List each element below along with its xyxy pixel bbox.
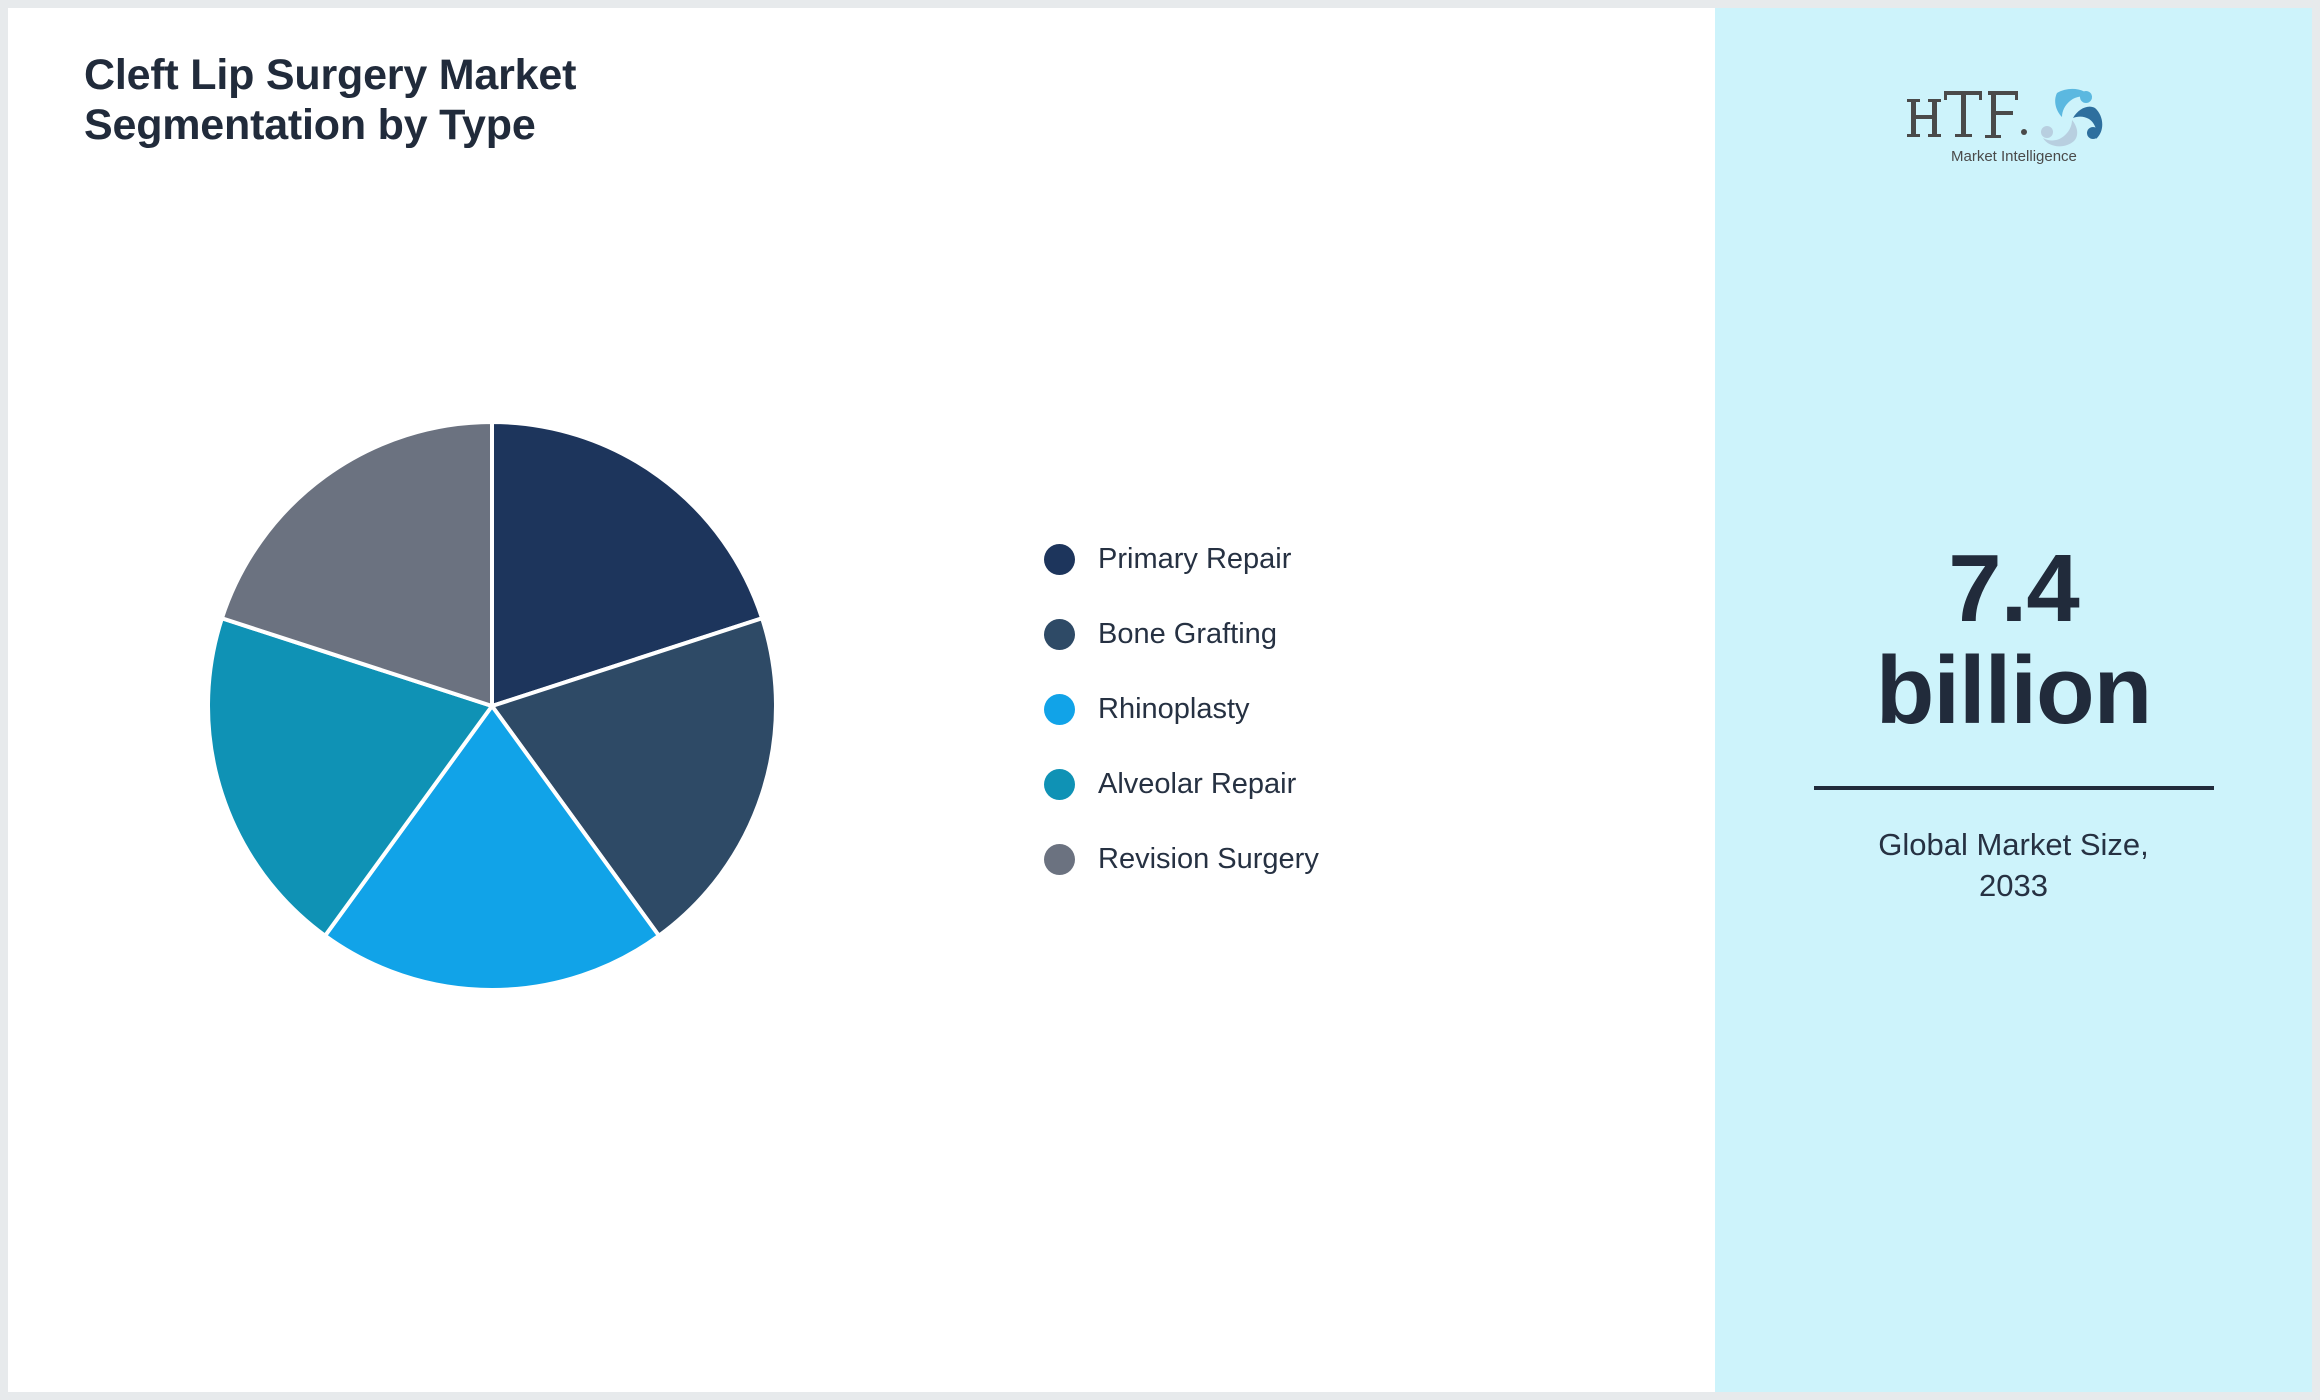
legend-swatch-icon-primary-repair [1044,544,1075,575]
legend-label-primary-repair: Primary Repair [1098,543,1291,576]
stat-value: 7.4 billion [1814,538,2214,742]
chart-panel: Cleft Lip Surgery Market Segmentation by… [8,8,1715,1392]
legend-item-primary-repair[interactable]: Primary Repair [1044,522,1494,597]
stat-caption-line-1: Global Market Size, [1814,824,2214,865]
stat-value-line-1: 7.4 [1814,538,2214,640]
stat-value-line-2: billion [1814,640,2214,742]
chart-title-line-2: Segmentation by Type [84,100,844,150]
legend-item-revision-surgery[interactable]: Revision Surgery [1044,822,1494,897]
legend-label-alveolar-repair: Alveolar Repair [1098,768,1296,801]
chart-title-line-1: Cleft Lip Surgery Market [84,50,844,100]
legend-label-rhinoplasty: Rhinoplasty [1098,693,1250,726]
legend-swatch-icon-rhinoplasty [1044,694,1075,725]
legend-swatch-icon-alveolar-repair [1044,769,1075,800]
legend-swatch-icon-revision-surgery [1044,844,1075,875]
legend-label-bone-grafting: Bone Grafting [1098,618,1277,651]
chart-legend: Primary Repair Bone Grafting Rhinoplasty… [1044,522,1494,897]
screenshot-canvas: Cleft Lip Surgery Market Segmentation by… [0,0,2320,1400]
stat-block: 7.4 billion Global Market Size, 2033 [1814,538,2214,906]
legend-item-alveolar-repair[interactable]: Alveolar Repair [1044,747,1494,822]
stat-sidebar: Market Intelligence 7.4 billion Global M… [1715,8,2312,1392]
stat-divider [1814,786,2214,790]
pie-chart-svg [207,421,777,991]
legend-item-bone-grafting[interactable]: Bone Grafting [1044,597,1494,672]
stat-caption: Global Market Size, 2033 [1814,824,2214,906]
brand-logo[interactable]: Market Intelligence [1849,66,2179,176]
htf-market-intelligence-logo-icon: Market Intelligence [1906,75,2121,167]
logo-tagline: Market Intelligence [1951,148,2077,165]
legend-swatch-icon-bone-grafting [1044,619,1075,650]
legend-label-revision-surgery: Revision Surgery [1098,843,1319,876]
pie-chart [207,421,777,991]
infographic-card: Cleft Lip Surgery Market Segmentation by… [8,8,2312,1392]
page-title: Cleft Lip Surgery Market Segmentation by… [84,50,844,151]
legend-item-rhinoplasty[interactable]: Rhinoplasty [1044,672,1494,747]
pie-slice-group [208,422,776,990]
stat-caption-line-2: 2033 [1814,865,2214,906]
